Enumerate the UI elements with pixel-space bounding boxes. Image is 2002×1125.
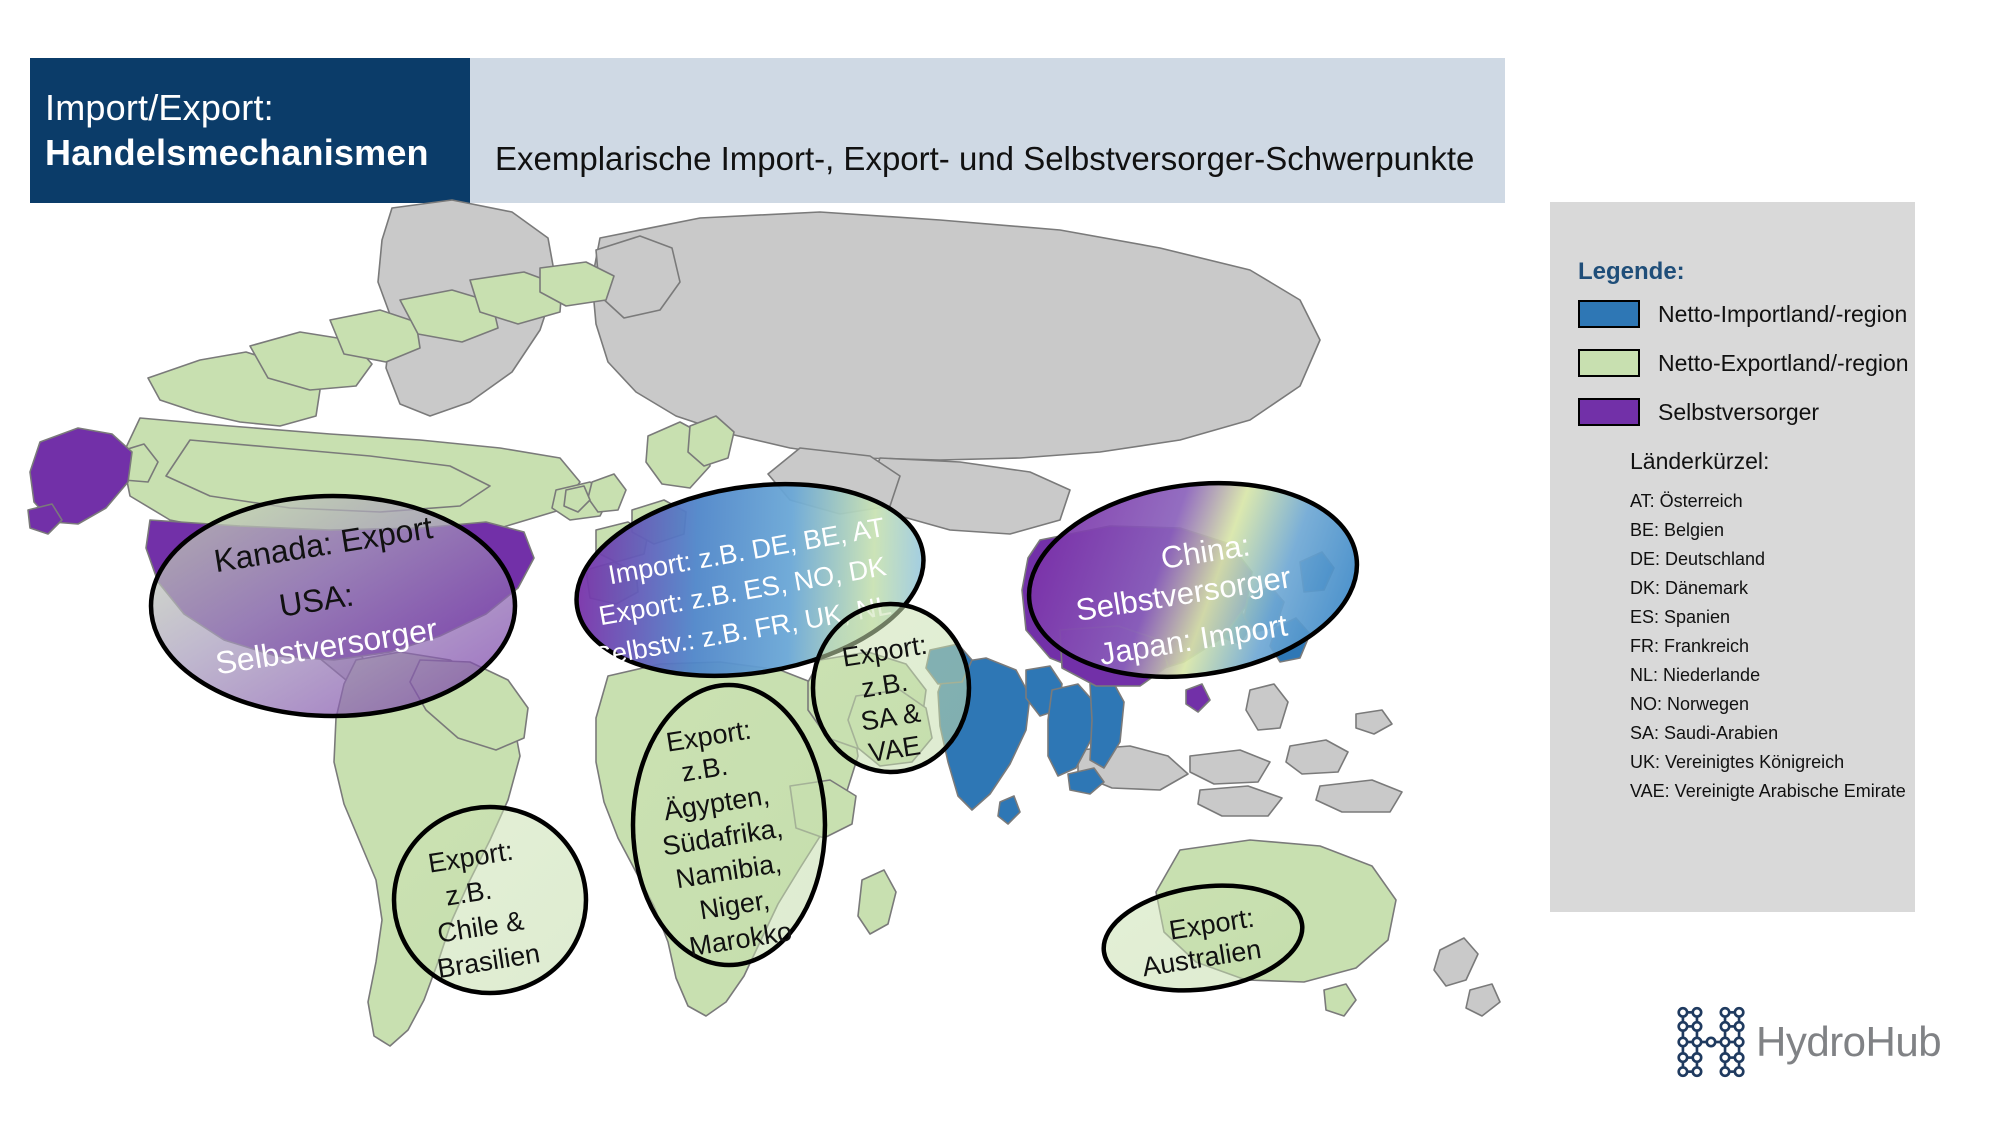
hydrohub-logo-mark [1672, 1003, 1750, 1081]
country-abbreviation-item: NL: Niederlande [1630, 661, 1930, 690]
hydrohub-logo-text: HydroHub [1756, 1018, 1941, 1066]
page-title-primary: Import/Export: [45, 86, 470, 130]
country-abbreviations-title: Länderkürzel: [1630, 448, 1769, 475]
country-abbreviation-item: NO: Norwegen [1630, 690, 1930, 719]
hydrohub-logo: HydroHub [1672, 1003, 1941, 1081]
legend-label-selfsufficient: Selbstversorger [1658, 399, 1819, 426]
country-abbreviation-item: ES: Spanien [1630, 603, 1930, 632]
legend-swatch-selfsufficient [1578, 398, 1640, 426]
country-abbreviation-item: AT: Österreich [1630, 487, 1930, 516]
country-abbreviation-item: SA: Saudi-Arabien [1630, 719, 1930, 748]
country-abbreviation-item: DE: Deutschland [1630, 545, 1930, 574]
title-block: Import/Export: Handelsmechanismen [30, 58, 470, 203]
world-map-svg [0, 190, 1560, 1125]
country-abbreviation-item: FR: Frankreich [1630, 632, 1930, 661]
legend-swatch-export [1578, 349, 1640, 377]
legend-item-export: Netto-Exportland/-region [1578, 349, 1909, 377]
country-abbreviation-item: DK: Dänemark [1630, 574, 1930, 603]
country-abbreviation-item: VAE: Vereinigte Arabische Emirate [1630, 777, 1930, 806]
legend-label-export: Netto-Exportland/-region [1658, 350, 1909, 377]
legend-label-import: Netto-Importland/-region [1658, 301, 1907, 328]
country-abbreviation-item: BE: Belgien [1630, 516, 1930, 545]
legend-swatch-import [1578, 300, 1640, 328]
page-subtitle: Exemplarische Import-, Export- und Selbs… [495, 140, 1474, 178]
page-title-secondary: Handelsmechanismen [45, 130, 470, 176]
legend-title: Legende: [1578, 258, 1685, 286]
country-abbreviations-list: AT: ÖsterreichBE: BelgienDE: Deutschland… [1630, 487, 1930, 806]
world-map [0, 190, 1560, 1125]
legend-item-selfsufficient: Selbstversorger [1578, 398, 1819, 426]
country-abbreviation-item: UK: Vereinigtes Königreich [1630, 748, 1930, 777]
legend-item-import: Netto-Importland/-region [1578, 300, 1907, 328]
